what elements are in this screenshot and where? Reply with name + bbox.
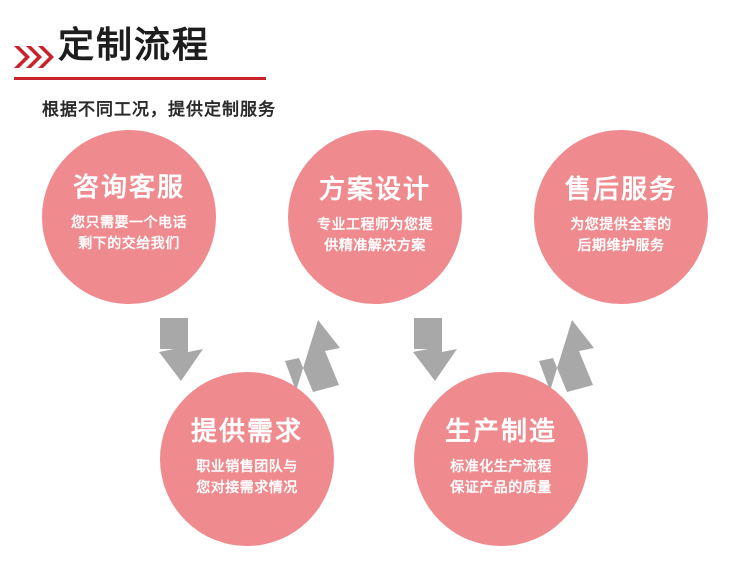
page-subtitle: 根据不同工况，提供定制服务 (42, 95, 276, 120)
page-title: 定制流程 (58, 28, 210, 64)
flow-step-provide-requirements[interactable]: 提供需求 职业销售团队与 您对接需求情况 (160, 372, 334, 546)
step-desc-line1: 职业销售团队与 (196, 457, 298, 479)
step-desc-line2: 剩下的交给我们 (78, 234, 180, 256)
step-desc-line2: 保证产品的质量 (450, 478, 552, 500)
flow-step-after-sales[interactable]: 售后服务 为您提供全套的 后期维护服务 (534, 130, 708, 304)
page-header: 定制流程 (0, 22, 750, 82)
triple-chevron-right-icon (14, 46, 54, 73)
title-underline (14, 77, 266, 80)
arrow-step3-to-step4 (413, 318, 457, 381)
flow-step-scheme-design[interactable]: 方案设计 专业工程师为您提 供精准解决方案 (288, 130, 462, 304)
step-title: 售后服务 (565, 176, 677, 205)
arrow-step2-to-step3 (285, 320, 340, 392)
step-title: 咨询客服 (73, 174, 185, 203)
step-desc-line2: 后期维护服务 (578, 236, 665, 258)
step-title: 方案设计 (319, 176, 431, 205)
arrow-step4-to-step5 (539, 320, 594, 392)
step-desc-line1: 专业工程师为您提 (317, 215, 433, 237)
flow-step-consult-service[interactable]: 咨询客服 您只需要一个电话 剩下的交给我们 (42, 130, 216, 304)
step-desc-line1: 您只需要一个电话 (71, 213, 187, 235)
step-desc-line1: 标准化生产流程 (450, 457, 552, 479)
step-title: 提供需求 (191, 418, 303, 447)
flow-step-production[interactable]: 生产制造 标准化生产流程 保证产品的质量 (414, 372, 588, 546)
step-title: 生产制造 (445, 418, 557, 447)
step-desc-line1: 为您提供全套的 (570, 215, 672, 237)
arrow-step1-to-step2 (159, 318, 203, 381)
step-desc-line2: 供精准解决方案 (324, 236, 426, 258)
step-desc-line2: 您对接需求情况 (196, 478, 298, 500)
